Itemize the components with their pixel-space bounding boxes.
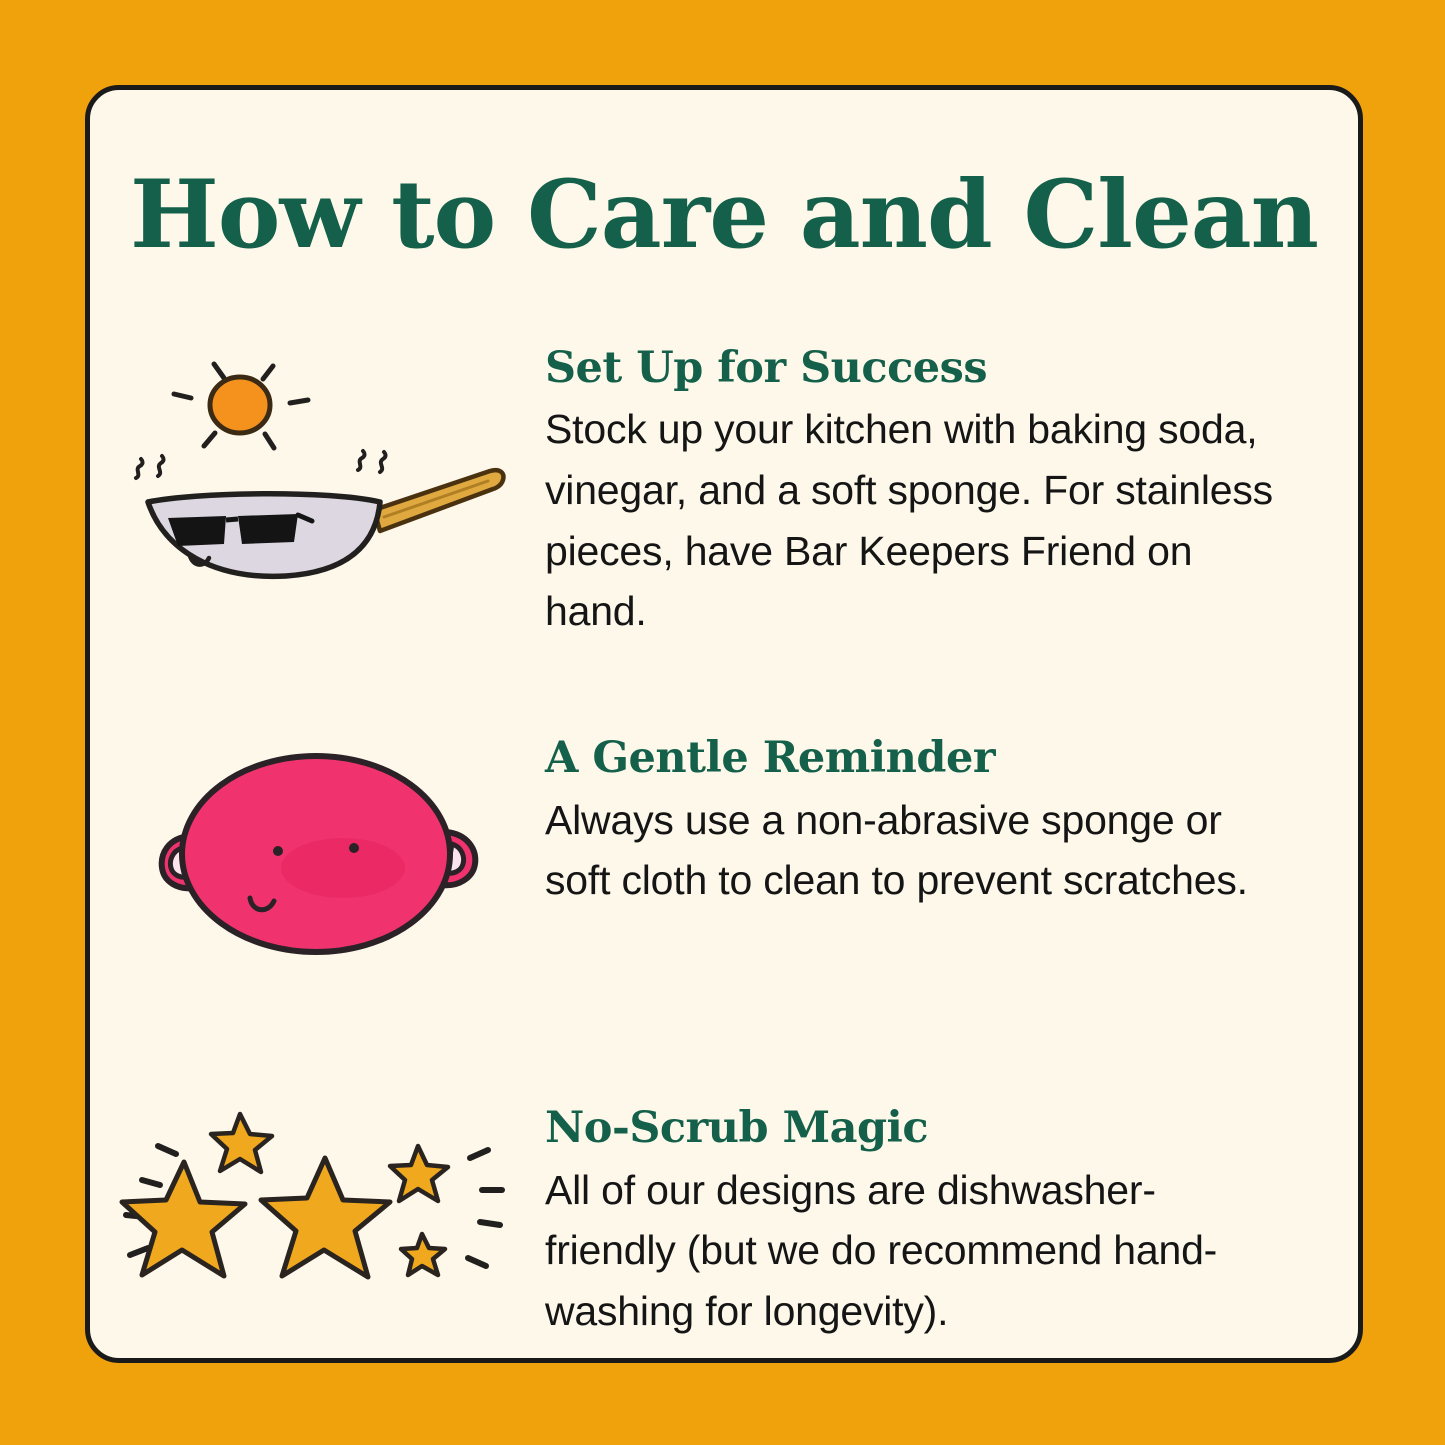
- section-set-up-for-success: Set Up for Success Stock up your kitchen…: [90, 340, 1358, 642]
- section-heading: Set Up for Success: [545, 344, 1318, 393]
- section-body: Always use a non-abrasive sponge or soft…: [545, 790, 1275, 911]
- section-text-block: No-Scrub Magic All of our designs are di…: [545, 1100, 1358, 1341]
- pink-pot-with-face-icon: [90, 730, 545, 970]
- pink-pot-illustration: [138, 740, 498, 970]
- sections-list: Set Up for Success Stock up your kitchen…: [90, 340, 1358, 1363]
- section-heading: A Gentle Reminder: [545, 734, 1318, 783]
- stars-illustration: [118, 1110, 518, 1310]
- page-title: How to Care and Clean: [90, 168, 1358, 262]
- frying-pan-with-sunglasses-and-sun-icon: [90, 340, 545, 600]
- section-body: All of our designs are dishwasher-friend…: [545, 1160, 1275, 1342]
- pan-sun-illustration: [118, 350, 518, 600]
- section-no-scrub-magic: No-Scrub Magic All of our designs are di…: [90, 1100, 1358, 1363]
- poster-canvas: How to Care and Clean: [0, 0, 1445, 1445]
- care-instructions-card: How to Care and Clean: [85, 85, 1363, 1363]
- section-text-block: Set Up for Success Stock up your kitchen…: [545, 340, 1358, 642]
- gold-stars-sparkle-icon: [90, 1100, 545, 1310]
- section-heading: No-Scrub Magic: [545, 1104, 1318, 1153]
- section-a-gentle-reminder: A Gentle Reminder Always use a non-abras…: [90, 730, 1358, 1020]
- section-text-block: A Gentle Reminder Always use a non-abras…: [545, 730, 1358, 911]
- section-body: Stock up your kitchen with baking soda, …: [545, 399, 1275, 642]
